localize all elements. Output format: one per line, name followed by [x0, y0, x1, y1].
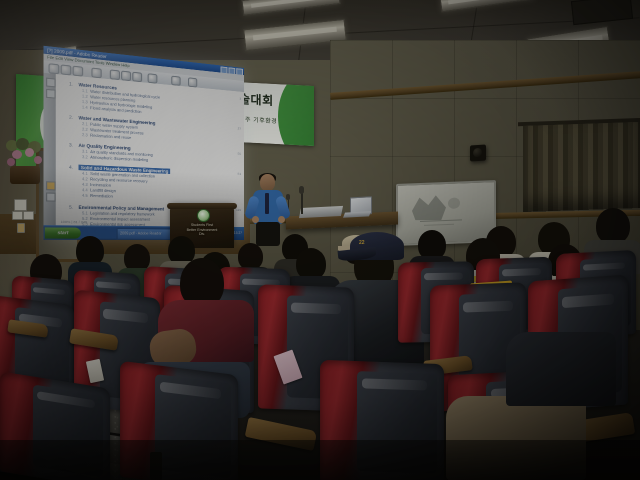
torso: [506, 332, 616, 406]
attachments-icon[interactable]: [46, 181, 56, 190]
wall-speaker: [470, 144, 486, 161]
presenter-lower-body: [256, 222, 280, 246]
bookmarks-icon[interactable]: [46, 78, 56, 88]
foreground-shadow: [0, 440, 640, 480]
head: [238, 243, 263, 270]
window-curtain[interactable]: [523, 122, 640, 212]
page-ref: 81: [238, 172, 242, 176]
presenter-laptop[interactable]: [344, 196, 370, 217]
ceiling-vent: [571, 0, 633, 25]
start-button[interactable]: start: [45, 227, 81, 238]
presenter: [248, 174, 292, 244]
bookmark-subentry: 4.5Remediation: [82, 193, 113, 199]
university-crest-icon: [197, 209, 210, 222]
page-ref: 119: [236, 208, 241, 212]
head: [596, 208, 630, 244]
lecture-hall-photo: 2 일시 술대회 대주 기후환경 [?] 2009.pdf - Adobe Re…: [0, 0, 640, 480]
ceiling-light: [241, 0, 340, 16]
page-ref: 55: [238, 152, 242, 156]
whiteboard: [396, 180, 496, 246]
light-switch-panel[interactable]: [14, 199, 27, 211]
cap-number: 22: [359, 241, 365, 246]
pages-icon[interactable]: [46, 89, 56, 99]
light-switch-panel[interactable]: [12, 211, 23, 220]
comments-icon[interactable]: [46, 192, 56, 201]
presenter-tie: [265, 193, 269, 214]
banner-right-title: 술대회: [239, 90, 274, 109]
pdf-status: 100% | 81 / 240: [61, 220, 87, 225]
outlet: [17, 223, 25, 233]
banner-right: 술대회 대주 기후환경: [236, 82, 314, 146]
microphone-head: [299, 186, 304, 194]
pdf-sidebar[interactable]: [44, 73, 56, 225]
presenter-head: [260, 174, 275, 191]
podium-text: Students First Better Environment Div.: [170, 223, 234, 237]
ceiling-light: [439, 0, 534, 12]
page-ref: 1: [239, 97, 241, 101]
light-switch-panel[interactable]: [23, 211, 34, 220]
page-ref: 27: [238, 127, 242, 131]
